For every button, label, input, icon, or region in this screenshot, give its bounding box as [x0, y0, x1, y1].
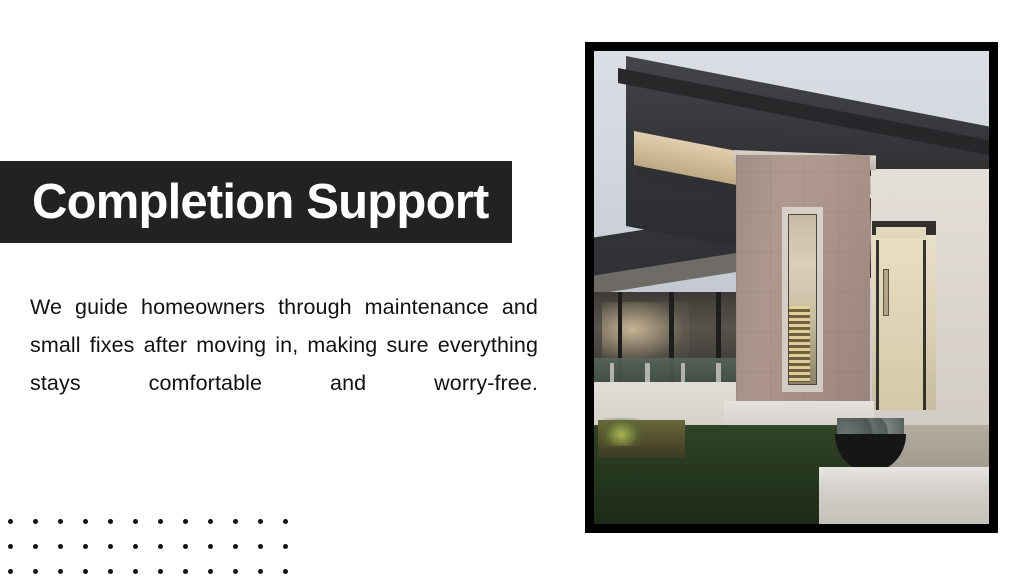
dot — [108, 544, 113, 549]
page-title: Completion Support — [0, 178, 488, 227]
dot — [233, 544, 238, 549]
dot — [8, 544, 13, 549]
body-paragraph: We guide homeowners through maintenance … — [30, 288, 538, 440]
dot — [258, 569, 263, 574]
photo-left-interior-glow — [602, 302, 689, 363]
dot — [133, 569, 138, 574]
dot — [258, 544, 263, 549]
dot — [8, 569, 13, 574]
dot — [233, 569, 238, 574]
photo-frame — [585, 42, 998, 533]
dot — [8, 519, 13, 524]
dot — [183, 569, 188, 574]
photo-foreground-wall — [819, 467, 989, 524]
dot — [158, 569, 163, 574]
dot — [33, 544, 38, 549]
dot — [33, 519, 38, 524]
dot — [33, 569, 38, 574]
dot — [208, 569, 213, 574]
dot — [258, 519, 263, 524]
dot — [58, 569, 63, 574]
content-column: Completion Support We guide homeowners t… — [0, 0, 560, 576]
dot — [208, 519, 213, 524]
dot — [183, 544, 188, 549]
dot — [108, 569, 113, 574]
dot — [158, 544, 163, 549]
photo-lit-staircase — [789, 306, 810, 382]
photo-door-handle — [883, 269, 889, 316]
dot — [133, 544, 138, 549]
dot — [183, 519, 188, 524]
dot — [58, 544, 63, 549]
dot — [283, 544, 288, 549]
dot-grid-decoration — [0, 508, 310, 576]
dot — [83, 544, 88, 549]
photo-garden-uplight — [602, 418, 642, 446]
dot — [108, 519, 113, 524]
slide-canvas: Completion Support We guide homeowners t… — [0, 0, 1024, 576]
photo-entry-door — [876, 240, 925, 410]
dot — [83, 569, 88, 574]
dot — [58, 519, 63, 524]
dot — [283, 569, 288, 574]
dot — [283, 519, 288, 524]
dot — [233, 519, 238, 524]
dot — [133, 519, 138, 524]
house-exterior-photo — [594, 51, 989, 524]
title-banner: Completion Support — [0, 161, 512, 243]
dot — [208, 544, 213, 549]
dot — [83, 519, 88, 524]
dot — [158, 519, 163, 524]
photo-entry-transom — [876, 227, 925, 239]
